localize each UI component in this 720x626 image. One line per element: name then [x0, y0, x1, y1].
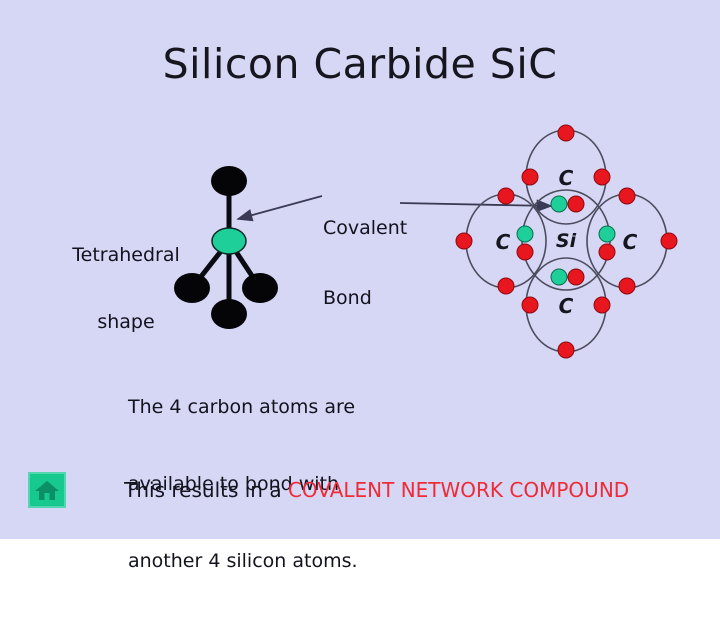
slide-canvas: C C C C Si	[0, 0, 720, 539]
carbon-ring-left-label: C	[496, 230, 511, 254]
electron-dot	[558, 125, 574, 141]
bond-electron-carbon	[517, 244, 533, 260]
carbon-ring-bottom-label: C	[559, 294, 574, 318]
home-icon[interactable]	[28, 472, 66, 508]
electron-dot	[661, 233, 677, 249]
carbon-atom-bottom	[211, 299, 247, 329]
footer-bar: This results in a COVALENT NETWORK COMPO…	[0, 462, 720, 518]
lewis-dot-structure: C C C C Si	[456, 125, 677, 358]
covalent-bond-label-line2: Bond	[323, 287, 407, 310]
electron-dot	[619, 278, 635, 294]
carbon-ring-top-label: C	[559, 166, 574, 190]
electron-dot	[522, 169, 538, 185]
electron-dot	[558, 342, 574, 358]
bond-electron-silicon	[517, 226, 533, 242]
bond-electron-silicon	[551, 269, 567, 285]
page-title: Silicon Carbide SiC	[0, 40, 720, 88]
body-paragraph-line3: another 4 silicon atoms.	[128, 549, 358, 575]
arrow-to-tetrahedral-bond	[238, 196, 322, 219]
electron-dot	[498, 278, 514, 294]
bond-electron-silicon	[551, 196, 567, 212]
tetrahedral-shape-label-line2: shape	[52, 311, 200, 333]
electron-dot	[456, 233, 472, 249]
tetrahedral-shape-label-line1: Tetrahedral	[52, 244, 200, 266]
electron-dot	[498, 188, 514, 204]
footer-text-accent: COVALENT NETWORK COMPOUND	[288, 478, 629, 502]
bond-electron-carbon	[568, 196, 584, 212]
carbon-atom-lower-right	[242, 273, 278, 303]
silicon-atom-center	[212, 228, 246, 254]
silicon-ring-center-label: Si	[556, 230, 577, 252]
bond-electron-carbon	[568, 269, 584, 285]
electron-dot	[594, 297, 610, 313]
arrow-to-lewis-bond	[400, 203, 551, 206]
carbon-atom-top	[211, 166, 247, 196]
body-paragraph-line1: The 4 carbon atoms are	[128, 395, 358, 421]
footer-text: This results in a COVALENT NETWORK COMPO…	[86, 454, 629, 526]
electron-dot	[522, 297, 538, 313]
covalent-bond-label: Covalent Bond	[323, 171, 407, 356]
electron-dot	[594, 169, 610, 185]
covalent-bond-label-line1: Covalent	[323, 217, 407, 240]
footer-text-plain: This results in a	[124, 478, 288, 502]
carbon-ring-right-label: C	[623, 230, 638, 254]
home-icon-glyph	[34, 478, 60, 502]
bond-electron-silicon	[599, 226, 615, 242]
electron-dot	[619, 188, 635, 204]
bond-electron-carbon	[599, 244, 615, 260]
